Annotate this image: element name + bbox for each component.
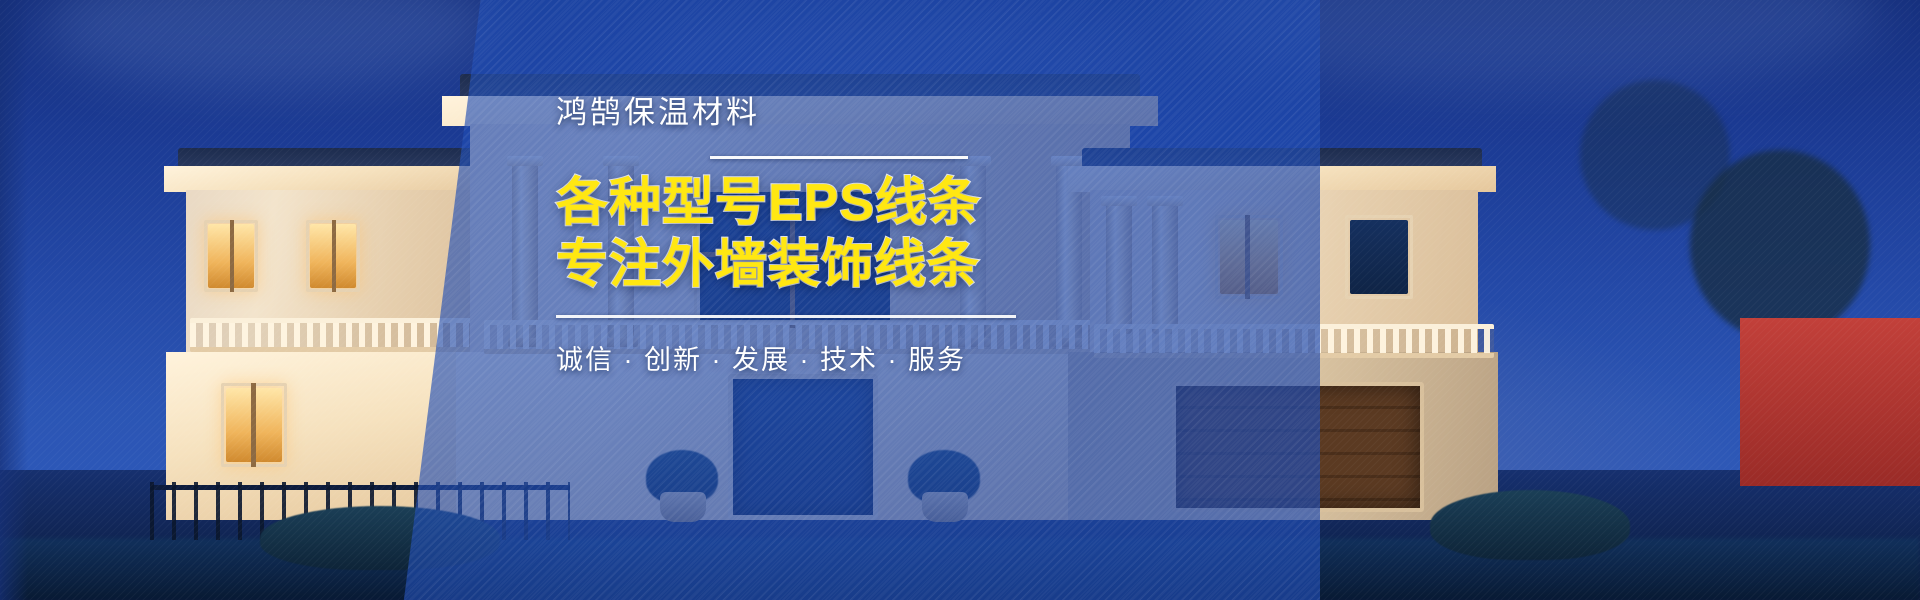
slogan: 诚信 · 创新 · 发展 · 技术 · 服务 xyxy=(556,338,1016,377)
hero-banner: 鸿鹄保温材料 各种型号EPS线条 专注外墙装饰线条 诚信 · 创新 · 发展 ·… xyxy=(0,0,1920,600)
divider-top xyxy=(710,156,968,159)
left-edge-band xyxy=(0,0,28,600)
divider-bottom xyxy=(556,315,1016,318)
brand-name: 鸿鹄保温材料 xyxy=(556,96,1016,130)
headline-line-1: 各种型号EPS线条 xyxy=(556,175,1016,231)
headline-line-2: 专注外墙装饰线条 xyxy=(556,237,1016,293)
banner-text-block: 鸿鹄保温材料 各种型号EPS线条 专注外墙装饰线条 诚信 · 创新 · 发展 ·… xyxy=(556,96,1016,377)
